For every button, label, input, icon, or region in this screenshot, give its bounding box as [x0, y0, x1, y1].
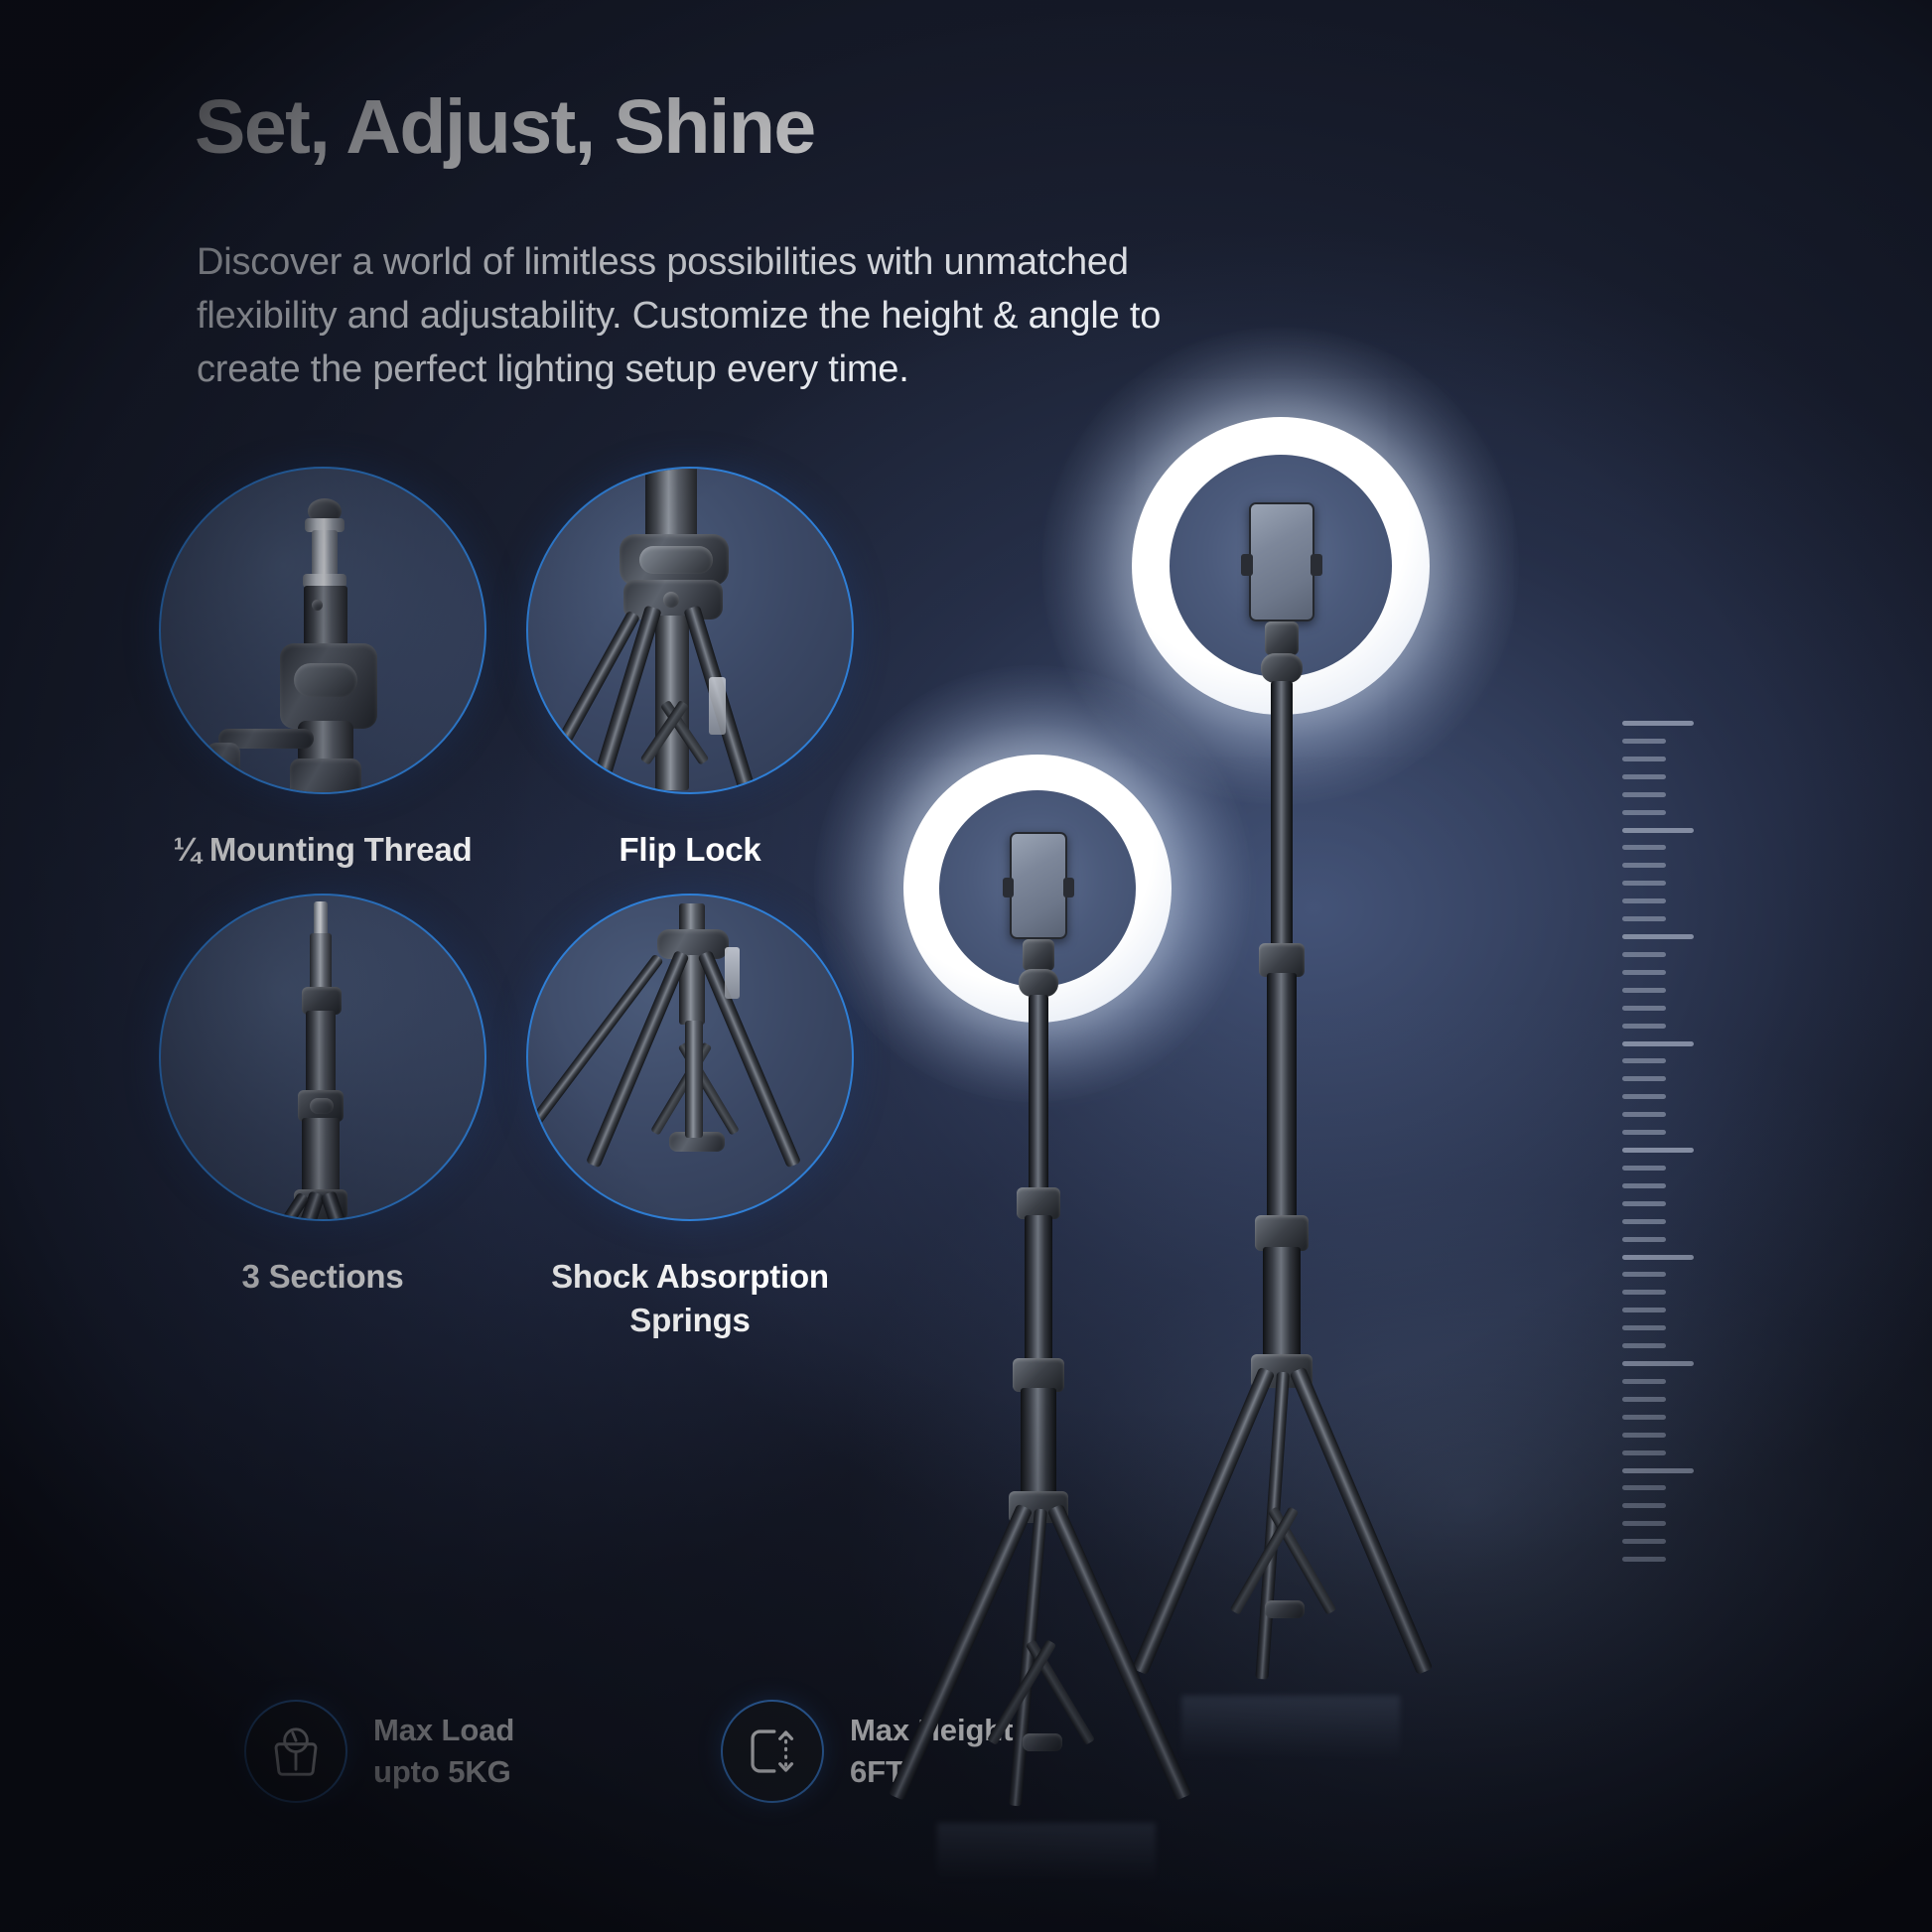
ruler-minor-tick: [1622, 916, 1666, 921]
ruler-minor-tick: [1622, 774, 1666, 779]
feature-shock-absorption-springs: Shock Absorption Springs: [526, 894, 854, 1341]
ring-light-bracket: [1265, 621, 1299, 655]
feature-label: Shock Absorption Springs: [526, 1255, 854, 1341]
tripod-brace-left: [1026, 1639, 1095, 1745]
ruler-major-tick: [1622, 1255, 1694, 1260]
mounting-thread-photo: [161, 469, 484, 792]
phone-clip-right: [1063, 878, 1074, 897]
phone-clip-left: [1241, 554, 1253, 576]
ruler-minor-tick: [1622, 1006, 1666, 1011]
page-subtitle: Discover a world of limitless possibilit…: [197, 236, 1269, 397]
mounted-phone: [1010, 832, 1067, 939]
ruler-minor-tick: [1622, 845, 1666, 850]
feature-flip-lock: Flip Lock: [526, 467, 854, 872]
ruler-minor-tick: [1622, 881, 1666, 886]
feature-label: 3 Sections: [159, 1255, 486, 1299]
phone-height-arrow-icon-wrap: [721, 1700, 824, 1803]
stand-pole-section-3: [1021, 1388, 1056, 1505]
tripod-brace-hub: [1023, 1733, 1062, 1751]
ruler-minor-tick: [1622, 1485, 1666, 1490]
ruler-minor-tick: [1622, 1130, 1666, 1135]
ruler-major-tick: [1622, 1041, 1694, 1046]
ruler-minor-tick: [1622, 1094, 1666, 1099]
spec-label-line2: upto 5KG: [373, 1751, 514, 1793]
ruler-minor-tick: [1622, 810, 1666, 815]
ruler-minor-tick: [1622, 1308, 1666, 1312]
ruler-minor-tick: [1622, 1521, 1666, 1526]
ruler-minor-tick: [1622, 739, 1666, 744]
ring-light-bracket: [1023, 939, 1054, 971]
ruler-minor-tick: [1622, 988, 1666, 993]
ruler-major-tick: [1622, 1148, 1694, 1153]
ruler-minor-tick: [1622, 970, 1666, 975]
spec-label-line1: Max Load: [373, 1710, 514, 1751]
ruler-minor-tick: [1622, 1290, 1666, 1295]
tripod-leg-left: [889, 1504, 1034, 1801]
tripod-leg-right: [1047, 1504, 1192, 1801]
ring-light-short-stand: [894, 745, 1311, 1837]
tripod-leg-right: [1290, 1367, 1434, 1675]
ruler-minor-tick: [1622, 1024, 1666, 1029]
ruler-minor-tick: [1622, 757, 1666, 761]
ruler-minor-tick: [1622, 1397, 1666, 1402]
ruler-minor-tick: [1622, 1557, 1666, 1562]
ruler-minor-tick: [1622, 792, 1666, 797]
phone-clip-left: [1003, 878, 1014, 897]
weighing-scale-icon: [267, 1723, 325, 1780]
ruler-major-tick: [1622, 1468, 1694, 1473]
ring-light-ball-head: [1261, 653, 1303, 683]
ruler-minor-tick: [1622, 1183, 1666, 1188]
ruler-major-tick: [1622, 828, 1694, 833]
ruler-minor-tick: [1622, 863, 1666, 868]
page-title: Set, Adjust, Shine: [195, 87, 815, 168]
feature-thumbnail-three-sections: [159, 894, 486, 1221]
ruler-major-tick: [1622, 1361, 1694, 1366]
ruler-minor-tick: [1622, 1450, 1666, 1455]
ruler-minor-tick: [1622, 952, 1666, 957]
ruler-minor-tick: [1622, 1112, 1666, 1117]
phone-clip-right: [1311, 554, 1322, 576]
ruler-minor-tick: [1622, 1272, 1666, 1277]
ruler-minor-tick: [1622, 1379, 1666, 1384]
stand-pole-section-1: [1029, 995, 1048, 1193]
ruler-minor-tick: [1622, 1325, 1666, 1330]
ruler-minor-tick: [1622, 1503, 1666, 1508]
feature-label: Flip Lock: [526, 828, 854, 872]
ruler-major-tick: [1622, 721, 1694, 726]
ruler-major-tick: [1622, 934, 1694, 939]
ruler-minor-tick: [1622, 1201, 1666, 1206]
ruler-minor-tick: [1622, 1237, 1666, 1242]
ruler-minor-tick: [1622, 1343, 1666, 1348]
spec-max-load: Max Load upto 5KG: [244, 1700, 514, 1803]
ruler-minor-tick: [1622, 1076, 1666, 1081]
feature-label: ¼ Mounting Thread: [159, 828, 486, 872]
ring-light-ball-head: [1019, 969, 1058, 997]
feature-three-sections: 3 Sections: [159, 894, 486, 1299]
ruler-minor-tick: [1622, 898, 1666, 903]
feature-mounting-thread: ¼ Mounting Thread: [159, 467, 486, 872]
feature-thumbnail-mounting-thread: [159, 467, 486, 794]
stand-pole-section-2: [1025, 1215, 1052, 1364]
stand-flip-lock-lower: [1013, 1358, 1064, 1392]
weighing-scale-icon-wrap: [244, 1700, 347, 1803]
product-feature-page: Set, Adjust, Shine Discover a world of l…: [0, 0, 1932, 1932]
ruler-minor-tick: [1622, 1058, 1666, 1063]
ruler-minor-tick: [1622, 1219, 1666, 1224]
shock-absorption-springs-photo: [528, 896, 852, 1219]
ruler-minor-tick: [1622, 1415, 1666, 1420]
feature-thumbnail-shock-springs: [526, 894, 854, 1221]
ruler-minor-tick: [1622, 1433, 1666, 1438]
flip-lock-photo: [528, 469, 852, 792]
ruler-minor-tick: [1622, 1166, 1666, 1171]
three-sections-photo: [161, 896, 484, 1219]
height-scale-ruler: [1622, 721, 1731, 1575]
mounted-phone: [1249, 502, 1314, 621]
feature-thumbnail-flip-lock: [526, 467, 854, 794]
ruler-minor-tick: [1622, 1539, 1666, 1544]
spec-max-load-text: Max Load upto 5KG: [373, 1710, 514, 1792]
phone-height-arrow-icon: [744, 1723, 801, 1780]
